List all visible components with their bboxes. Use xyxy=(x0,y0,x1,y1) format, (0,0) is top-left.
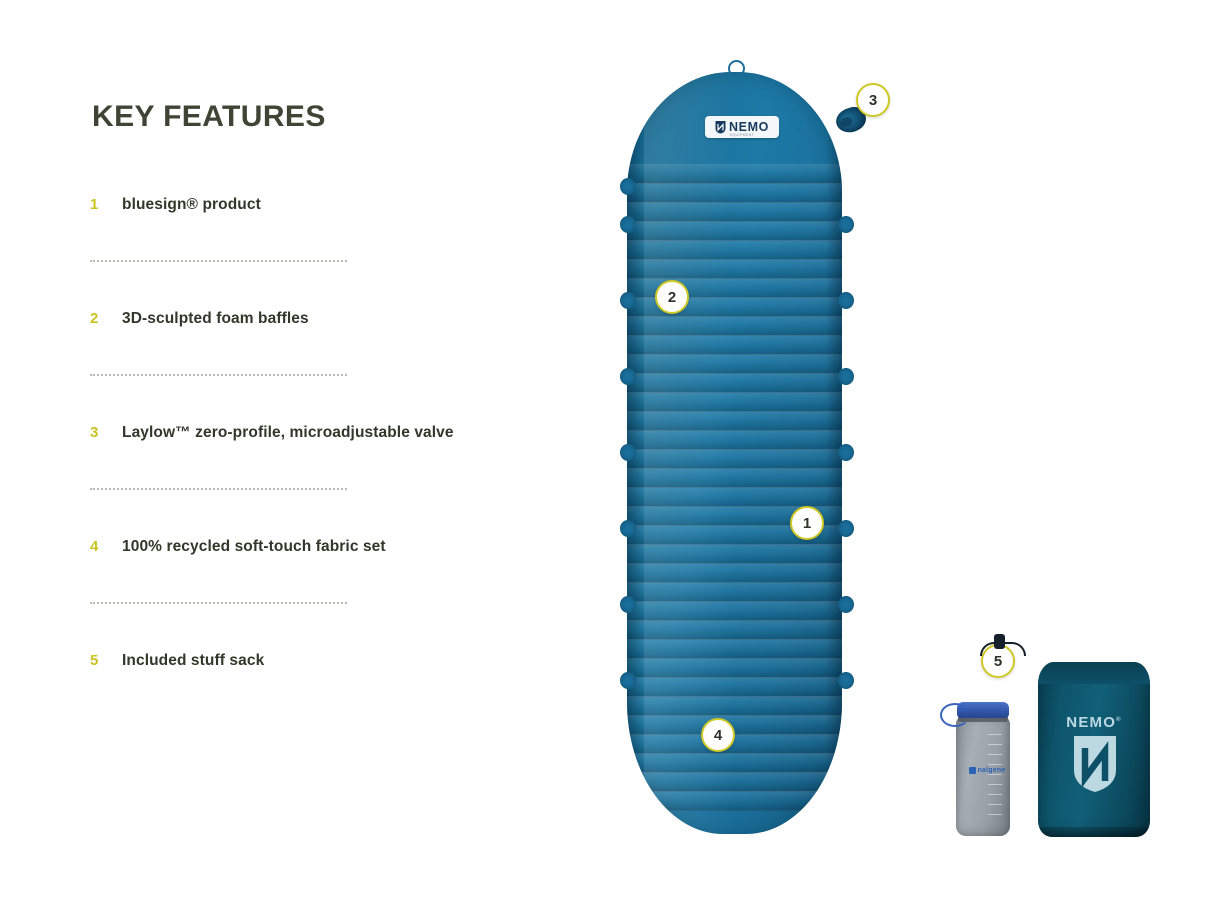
product-feature-graphic: KEY FEATURES 1 bluesign® product 2 3D-sc… xyxy=(0,0,1214,911)
feature-number-4: 4 xyxy=(90,538,122,555)
bottle-brand-text: nalgene xyxy=(978,767,1006,774)
spacer xyxy=(90,604,560,652)
stuff-sack: NEMO® xyxy=(1038,662,1150,837)
page-title: KEY FEATURES xyxy=(92,100,560,134)
sack-logo-text: NEMO® xyxy=(1038,714,1150,731)
stuff-sack-and-bottle: nalgene NEMO® xyxy=(950,640,1170,850)
feature-label-2: 3D-sculpted foam baffles xyxy=(122,310,309,328)
nalgene-bottle: nalgene xyxy=(950,702,1016,837)
spacer xyxy=(90,336,560,374)
pad-edge-scallop xyxy=(620,520,636,537)
pad-edge-scallop xyxy=(620,178,636,195)
feature-item-2: 2 3D-sculpted foam baffles xyxy=(90,310,560,336)
pad-edge-scallop xyxy=(838,672,854,689)
spacer xyxy=(90,262,560,310)
spacer xyxy=(90,490,560,538)
pad-edge-scallop xyxy=(620,672,636,689)
callout-badge-4[interactable]: 4 xyxy=(701,718,735,752)
callout-badge-1[interactable]: 1 xyxy=(790,506,824,540)
feature-number-2: 2 xyxy=(90,310,122,327)
pad-edge-scallop xyxy=(838,292,854,309)
sack-top xyxy=(1038,662,1150,684)
pad-edge-scallop xyxy=(620,368,636,385)
feature-label-3: Laylow™ zero-profile, microadjustable va… xyxy=(122,424,454,442)
pad-edge-scallop xyxy=(620,292,636,309)
feature-label-5: Included stuff sack xyxy=(122,652,264,670)
bottle-loop-icon xyxy=(940,703,970,727)
pad-logo-subtext: EQUIPMENT xyxy=(705,133,779,137)
bottle-body: nalgene xyxy=(956,716,1010,836)
key-features-panel: KEY FEATURES 1 bluesign® product 2 3D-sc… xyxy=(90,100,560,678)
pad-edge-scallop xyxy=(620,444,636,461)
pad-edge-scallop xyxy=(838,444,854,461)
nemo-shield-icon xyxy=(715,120,726,134)
sleeping-pad-illustration: NEMO EQUIPMENT xyxy=(612,60,862,840)
nalgene-mark-icon xyxy=(969,767,976,774)
feature-item-3: 3 Laylow™ zero-profile, microadjustable … xyxy=(90,424,560,450)
feature-item-4: 4 100% recycled soft-touch fabric set xyxy=(90,538,560,564)
feature-number-3: 3 xyxy=(90,424,122,441)
feature-label-4: 100% recycled soft-touch fabric set xyxy=(122,538,386,556)
pad-body: NEMO EQUIPMENT xyxy=(627,72,842,834)
pad-edge-scallop xyxy=(838,368,854,385)
pad-edge-scallop xyxy=(620,216,636,233)
callout-badge-2[interactable]: 2 xyxy=(655,280,689,314)
feature-item-1: 1 bluesign® product xyxy=(90,196,560,222)
pad-edge-scallop xyxy=(838,216,854,233)
sack-bottom xyxy=(1038,827,1150,837)
spacer xyxy=(90,376,560,424)
feature-number-1: 1 xyxy=(90,196,122,213)
pad-baffles xyxy=(627,72,842,834)
spacer xyxy=(90,222,560,260)
feature-item-5: 5 Included stuff sack xyxy=(90,652,560,678)
pad-nemo-logo: NEMO EQUIPMENT xyxy=(705,116,779,138)
sack-cord-lock xyxy=(994,634,1005,649)
nemo-shield-icon xyxy=(1072,734,1118,794)
bottle-graduations xyxy=(988,734,1002,826)
valve-cap xyxy=(839,116,853,128)
feature-label-1: bluesign® product xyxy=(122,196,261,214)
spacer xyxy=(90,450,560,488)
pad-edge-scallop xyxy=(620,596,636,613)
spacer xyxy=(90,564,560,602)
pad-logo-text: NEMO xyxy=(729,121,769,134)
pad-edge-scallop xyxy=(838,596,854,613)
feature-number-5: 5 xyxy=(90,652,122,669)
bottle-brand-label: nalgene xyxy=(964,764,1010,776)
callout-badge-3[interactable]: 3 xyxy=(856,83,890,117)
pad-edge-scallop xyxy=(838,520,854,537)
